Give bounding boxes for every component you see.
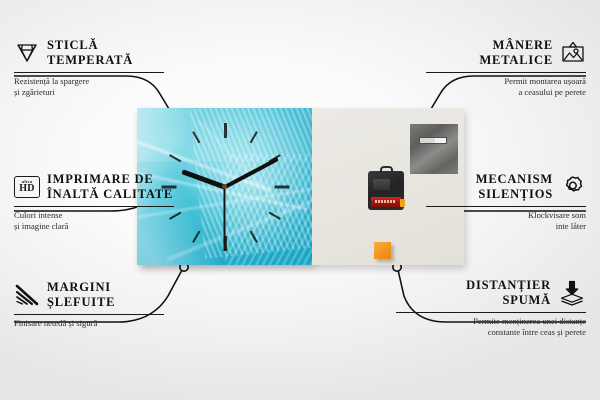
callout-title-line1: MARGINI xyxy=(47,280,111,294)
ultra-hd-icon: ultra HD xyxy=(14,176,40,198)
callout-silent-mechanism: MECANISM SILENȚIOS Klockvisare som inte … xyxy=(426,172,586,232)
callout-divider xyxy=(14,206,174,208)
callout-divider xyxy=(14,72,164,74)
callout-title: IMPRIMARE DE ÎNALTĂ CALITATE xyxy=(47,172,173,202)
callout-divider xyxy=(426,206,586,208)
callout-foam-spacer: DISTANȚIER SPUMĂ Permite menținerea unei… xyxy=(396,278,586,338)
tick-3 xyxy=(274,185,289,188)
callout-sub-line2: și imagine clară xyxy=(14,221,68,231)
callout-title: MECANISM SILENȚIOS xyxy=(476,172,553,202)
callout-title-line2: METALICE xyxy=(479,53,553,67)
callout-title-row: DISTANȚIER SPUMĂ xyxy=(396,278,586,308)
callout-title-row: ultra HD IMPRIMARE DE ÎNALTĂ CALITATE xyxy=(14,172,174,202)
callout-title-line1: MÂNERE xyxy=(493,38,553,52)
ultra-hd-badge-bottom: HD xyxy=(19,184,34,194)
tick-11 xyxy=(192,131,200,143)
tick-5 xyxy=(249,230,257,242)
callout-title-line2: SPUMĂ xyxy=(503,293,551,307)
diamond-icon xyxy=(14,42,40,64)
callout-subtitle: Permit montarea ușoară a ceasului pe per… xyxy=(426,76,586,98)
callout-title: MARGINI ȘLEFUITE xyxy=(47,280,115,310)
callout-sub-line1: Rezistență la spargere xyxy=(14,76,89,86)
tick-7 xyxy=(192,230,200,242)
infographic-stage: STICLĂ TEMPERATĂ Rezistență la spargere … xyxy=(0,0,600,400)
clock-center-pin xyxy=(222,184,227,189)
callout-sub-line2: a ceasului pe perete xyxy=(518,87,586,97)
callout-title: DISTANȚIER SPUMĂ xyxy=(466,278,551,308)
callout-sub-line1: Culori intense xyxy=(14,210,62,220)
callout-title-row: MARGINI ȘLEFUITE xyxy=(14,280,164,310)
orange-foam-spacer xyxy=(374,242,391,259)
battery-label xyxy=(375,200,395,203)
battery-terminal xyxy=(400,199,405,207)
callout-sub-line2: inte låter xyxy=(556,221,586,231)
callout-title-line1: STICLĂ xyxy=(47,38,98,52)
callout-title-line1: DISTANȚIER xyxy=(466,278,551,292)
tick-4 xyxy=(268,211,280,219)
mechanism-shaft xyxy=(373,179,390,190)
aa-battery xyxy=(371,197,401,207)
callout-title-line2: TEMPERATĂ xyxy=(47,53,133,67)
tick-10 xyxy=(169,154,181,162)
callout-tempered-glass: STICLĂ TEMPERATĂ Rezistență la spargere … xyxy=(14,38,164,98)
callout-sub-line2: și zgârieturi xyxy=(14,87,55,97)
second-hand xyxy=(224,187,226,251)
callout-title: MÂNERE METALICE xyxy=(479,38,553,68)
callout-sub-line1: Finisare netedă și sigură xyxy=(14,318,97,328)
callout-title-line2: ÎNALTĂ CALITATE xyxy=(47,187,173,201)
mechanism-hook xyxy=(380,166,393,173)
quartz-clock-mechanism xyxy=(368,171,404,210)
callout-subtitle: Culori intense și imagine clară xyxy=(14,210,174,232)
hanger-slot xyxy=(419,137,447,144)
framed-picture-icon xyxy=(560,41,586,65)
tick-12 xyxy=(224,123,227,138)
callout-subtitle: Permite menținerea unei distanțe constan… xyxy=(396,316,586,338)
callout-title-row: STICLĂ TEMPERATĂ xyxy=(14,38,164,68)
callout-title-line2: SILENȚIOS xyxy=(478,187,553,201)
callout-title-line1: MECANISM xyxy=(476,172,553,186)
callout-polished-edges: MARGINI ȘLEFUITE Finisare netedă și sigu… xyxy=(14,280,164,329)
callout-print-quality: ultra HD IMPRIMARE DE ÎNALTĂ CALITATE Cu… xyxy=(14,172,174,232)
callout-title-row: MÂNERE METALICE xyxy=(426,38,586,68)
callout-divider xyxy=(396,312,586,314)
tick-1 xyxy=(249,131,257,143)
callout-subtitle: Finisare netedă și sigură xyxy=(14,318,164,329)
callout-divider xyxy=(14,314,164,316)
arrow-onto-layers-icon xyxy=(558,280,586,306)
callout-sub-line1: Permite menținerea unei distanțe xyxy=(473,316,586,326)
callout-title-line1: IMPRIMARE DE xyxy=(47,172,153,186)
callout-sub-line1: Klockvisare som xyxy=(528,210,586,220)
diagonal-lines-icon xyxy=(14,284,40,306)
callout-metal-handles: MÂNERE METALICE Permit montarea ușoară a… xyxy=(426,38,586,98)
callout-sub-line2: constante între ceas și perete xyxy=(488,327,586,337)
callout-title: STICLĂ TEMPERATĂ xyxy=(47,38,133,68)
gear-icon xyxy=(560,175,586,199)
callout-sub-line1: Permit montarea ușoară xyxy=(504,76,586,86)
callout-subtitle: Rezistență la spargere și zgârieturi xyxy=(14,76,164,98)
callout-title-row: MECANISM SILENȚIOS xyxy=(426,172,586,202)
callout-title-line2: ȘLEFUITE xyxy=(47,295,115,309)
metal-wall-hanger xyxy=(410,124,458,174)
callout-divider xyxy=(426,72,586,74)
callout-subtitle: Klockvisare som inte låter xyxy=(426,210,586,232)
